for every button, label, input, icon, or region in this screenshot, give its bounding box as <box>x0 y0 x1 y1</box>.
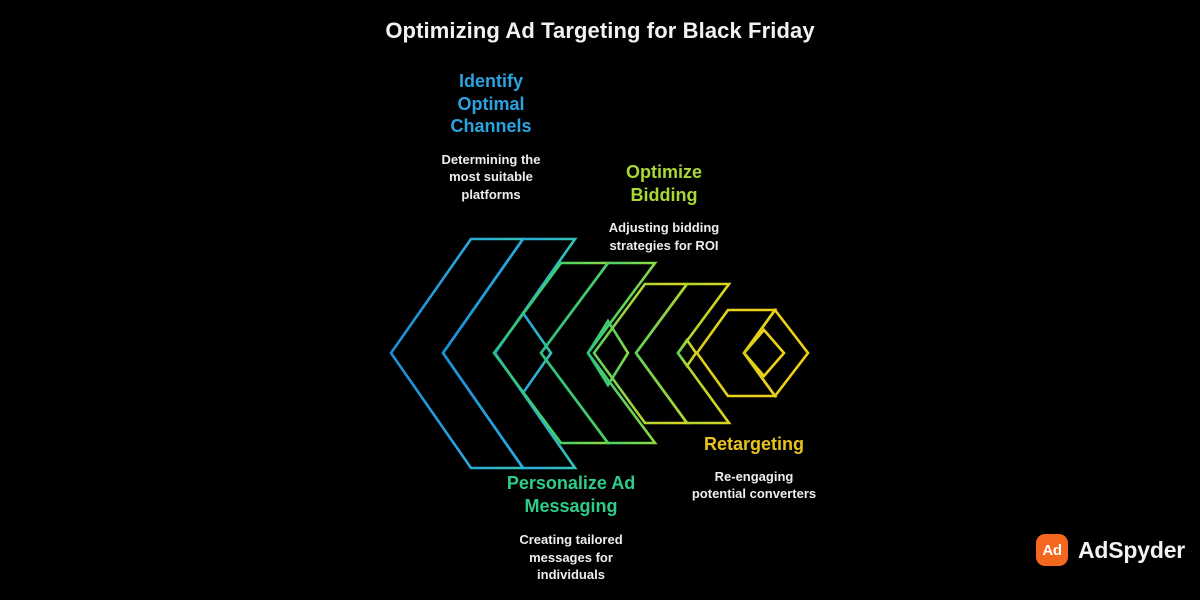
step-label-identify-optimal-channels: Identify Optimal Channels Determining th… <box>405 70 577 203</box>
chevron-arrow-4 <box>697 310 808 396</box>
chevron-arrow-3 <box>594 284 729 423</box>
step-1-desc-line-1: Determining the <box>405 151 577 169</box>
step-2-title-line-1: Optimize <box>578 161 750 184</box>
step-3-desc-line-3: individuals <box>482 566 660 584</box>
step-3-description: Creating tailored messages for individua… <box>482 531 660 584</box>
step-4-desc-line-1: Re-engaging <box>668 468 840 486</box>
step-1-title-line-1: Identify <box>405 70 577 93</box>
adspyder-logo-mark-text: Ad <box>1036 534 1068 566</box>
step-4-title: Retargeting <box>668 433 840 456</box>
step-3-title-line-2: Messaging <box>482 495 660 518</box>
step-2-title-line-2: Bidding <box>578 184 750 207</box>
step-1-title-line-3: Channels <box>405 115 577 138</box>
step-1-desc-line-2: most suitable <box>405 168 577 186</box>
step-4-desc-line-2: potential converters <box>668 485 840 503</box>
adspyder-logo-mark: Ad <box>1036 534 1068 566</box>
adspyder-logo-wordmark: AdSpyder <box>1078 537 1185 564</box>
step-1-title: Identify Optimal Channels <box>405 70 577 138</box>
step-1-title-line-2: Optimal <box>405 93 577 116</box>
step-1-desc-line-3: platforms <box>405 186 577 204</box>
step-2-title: Optimize Bidding <box>578 161 750 206</box>
chevron-arrow-2 <box>494 263 655 443</box>
step-label-optimize-bidding: Optimize Bidding Adjusting bidding strat… <box>578 161 750 254</box>
step-2-desc-line-2: strategies for ROI <box>578 237 750 255</box>
adspyder-logo: Ad AdSpyder <box>1036 534 1185 566</box>
chevron-arrow-1 <box>391 239 575 468</box>
step-3-desc-line-1: Creating tailored <box>482 531 660 549</box>
step-4-title-line-1: Retargeting <box>668 433 840 456</box>
step-label-retargeting: Retargeting Re-engaging potential conver… <box>668 433 840 503</box>
step-3-title-line-1: Personalize Ad <box>482 472 660 495</box>
page-title: Optimizing Ad Targeting for Black Friday <box>0 18 1200 44</box>
step-3-desc-line-2: messages for <box>482 549 660 567</box>
step-1-description: Determining the most suitable platforms <box>405 151 577 204</box>
step-4-description: Re-engaging potential converters <box>668 468 840 503</box>
infographic-canvas: Optimizing Ad Targeting for Black Friday <box>0 0 1200 600</box>
step-label-personalize-ad-messaging: Personalize Ad Messaging Creating tailor… <box>482 472 660 584</box>
step-2-desc-line-1: Adjusting bidding <box>578 219 750 237</box>
step-2-description: Adjusting bidding strategies for ROI <box>578 219 750 254</box>
step-3-title: Personalize Ad Messaging <box>482 472 660 517</box>
